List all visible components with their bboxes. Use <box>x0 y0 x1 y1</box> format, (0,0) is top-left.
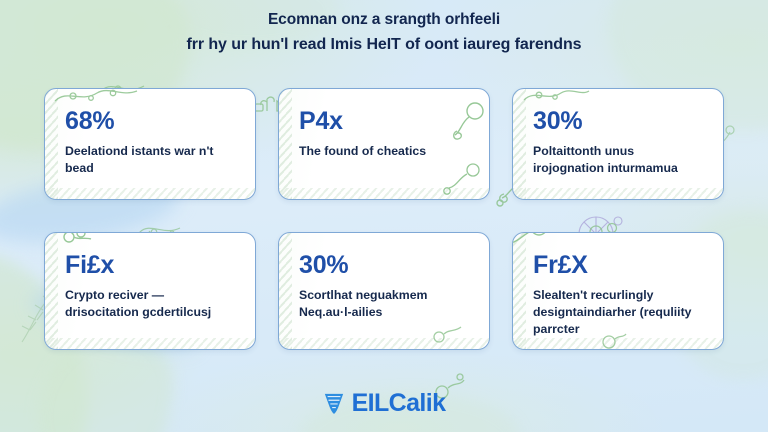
stat-card-6[interactable]: Fr£X SleaIten't recurlingly designtaindi… <box>512 232 724 350</box>
page-title-line-1: Ecomnan onz a srangth orhfeeli <box>60 8 708 32</box>
page-title-line-2: frr hy ur hun'l read Imis HeIT of oont i… <box>60 32 708 57</box>
stat-description: The found of cheatics <box>299 143 471 160</box>
stat-description: Crypto reciver — drisocitation gcdertilc… <box>65 287 237 321</box>
header: Ecomnan onz a srangth orhfeeli frr hy ur… <box>0 8 768 57</box>
vine-dot-accent-icon <box>425 323 465 350</box>
vine-accent-icon <box>59 232 99 252</box>
stat-value: 68% <box>65 106 237 136</box>
stat-card-5[interactable]: 30% Scortlhat neguakmem Neq.au·l-ailies <box>278 232 490 350</box>
vine-cluster-accent-icon <box>439 160 490 200</box>
stat-card-4[interactable]: Fi£x Crypto reciver — drisocitation gcde… <box>44 232 256 350</box>
stat-value: 30% <box>533 106 705 136</box>
stat-card-2[interactable]: Р4x The found of cheatics <box>278 88 490 200</box>
stat-value: Fr£X <box>533 250 705 280</box>
stat-card-1[interactable]: 68% Deelationd istants war n't bead <box>44 88 256 200</box>
stat-description: SleaIten't recurlingly designtaindiarher… <box>533 287 705 338</box>
stat-description: Scortlhat neguakmem Neq.au·l-ailies <box>299 287 471 321</box>
footer-brand: EILCalik <box>0 390 768 416</box>
stat-card-grid: 68% Deelationd istants war n't bead Р4x … <box>44 88 724 350</box>
stat-description: Deelationd istants war n't bead <box>65 143 237 177</box>
stat-value: Fi£x <box>65 250 237 280</box>
stat-value: Р4x <box>299 106 471 136</box>
stat-value: 30% <box>299 250 471 280</box>
stat-card-3[interactable]: 30% Poltaittonth unus irojognation intur… <box>512 88 724 200</box>
shield-triangle-icon <box>323 391 345 415</box>
brand-name: EILCalik <box>352 390 446 416</box>
stat-description: Poltaittonth unus irojognation inturmamu… <box>533 143 705 177</box>
